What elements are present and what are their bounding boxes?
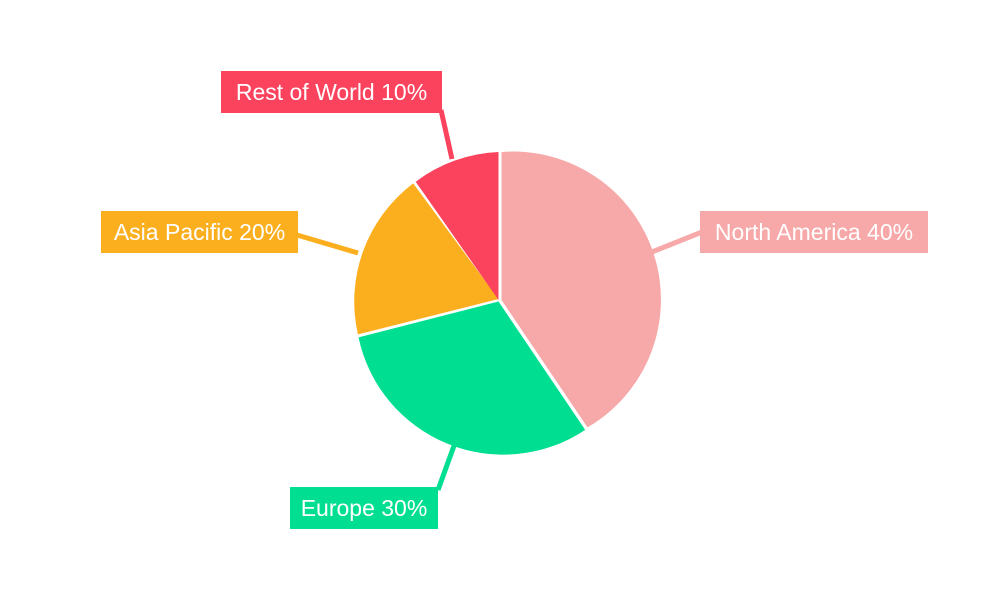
leader-line-rest-of-world [441,110,452,159]
pie-label-europe[interactable]: Europe 30% [290,487,438,529]
pie-chart-canvas [0,0,1000,600]
pie-chart: North America 40% Europe 30% Asia Pacifi… [0,0,1000,600]
pie-label-north-america-text: North America 40% [715,221,913,244]
pie-label-rest-of-world[interactable]: Rest of World 10% [221,71,442,113]
leader-line-asia-pacific [297,235,358,253]
pie-label-asia-pacific-text: Asia Pacific 20% [114,221,285,244]
pie-label-asia-pacific[interactable]: Asia Pacific 20% [101,211,298,253]
pie-label-europe-text: Europe 30% [301,497,428,520]
pie-label-rest-of-world-text: Rest of World 10% [236,81,427,104]
pie-label-north-america[interactable]: North America 40% [700,211,928,253]
leader-line-europe [438,443,455,490]
